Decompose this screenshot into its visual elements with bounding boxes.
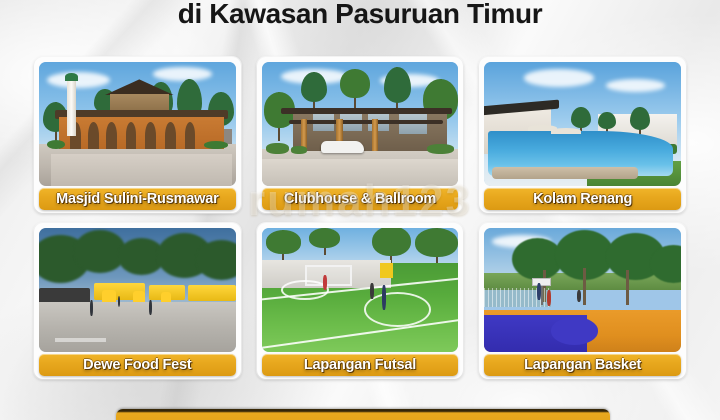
bottom-ribbon-banner	[116, 409, 610, 420]
facility-label: Lapangan Basket	[484, 354, 681, 376]
facility-card-dewe-food-fest[interactable]: Dewe Food Fest	[34, 223, 241, 379]
facility-grid: Masjid Sulini-Rusmawar	[34, 57, 686, 379]
facility-label: Clubhouse & Ballroom	[262, 188, 459, 210]
facility-image-kolam-renang	[484, 62, 681, 186]
facility-card-kolam-renang[interactable]: Kolam Renang	[479, 57, 686, 213]
facility-image-dewe-food-fest	[39, 228, 236, 352]
facility-image-masjid	[39, 62, 236, 186]
page-title: di Kawasan Pasuruan Timur	[0, 0, 720, 31]
facility-card-masjid[interactable]: Masjid Sulini-Rusmawar	[34, 57, 241, 213]
facility-image-lapangan-futsal	[262, 228, 459, 352]
facility-card-clubhouse[interactable]: Clubhouse & Ballroom	[257, 57, 464, 213]
facility-image-lapangan-basket	[484, 228, 681, 352]
facility-label: Lapangan Futsal	[262, 354, 459, 376]
facility-label: Kolam Renang	[484, 188, 681, 210]
facility-label: Dewe Food Fest	[39, 354, 236, 376]
facility-label: Masjid Sulini-Rusmawar	[39, 188, 236, 210]
facility-card-lapangan-basket[interactable]: Lapangan Basket	[479, 223, 686, 379]
facility-image-clubhouse	[262, 62, 459, 186]
facility-card-lapangan-futsal[interactable]: Lapangan Futsal	[257, 223, 464, 379]
